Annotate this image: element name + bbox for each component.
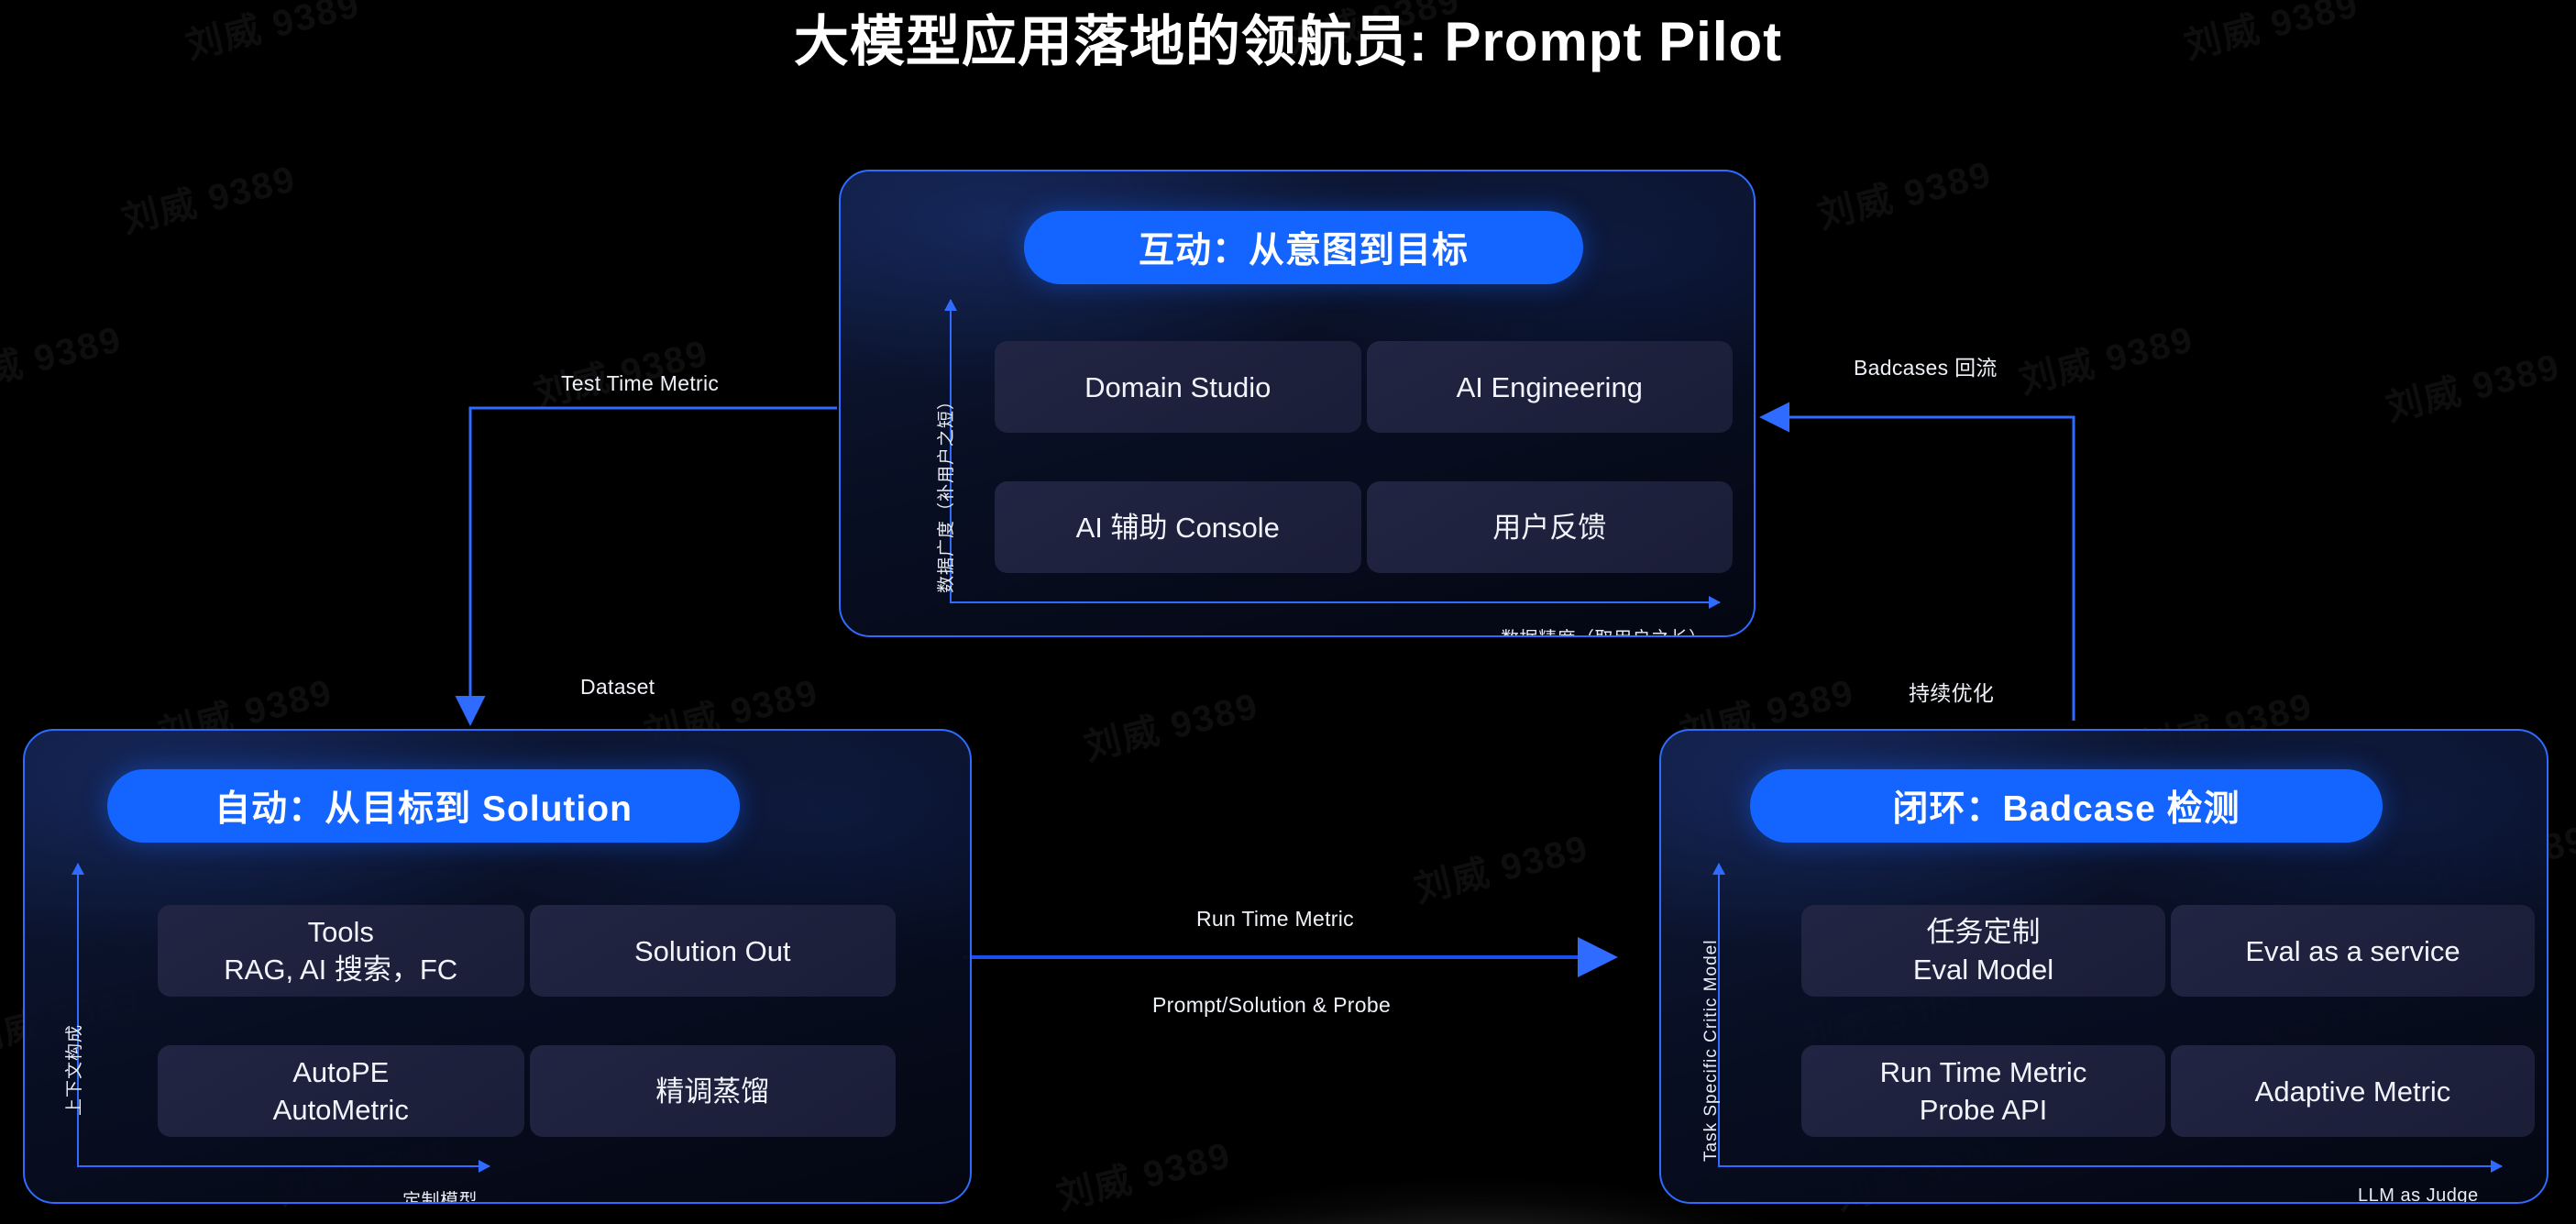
panel-interaction[interactable]: 互动：从意图到目标 数据广度（补用户之短） 数据精度（取用户之长） Domain… [839, 170, 1756, 637]
watermark: 刘威 9389 [1078, 676, 1263, 770]
card-line-1: Domain Studio [1084, 369, 1271, 406]
connector-label-run-time-metric: Run Time Metric [1196, 907, 1354, 932]
watermark: 刘威 9389 [528, 323, 713, 417]
watermark: 刘威 9389 [1811, 144, 1997, 238]
connector-label-test-time-metric: Test Time Metric [561, 371, 719, 396]
connector-label-dataset: Dataset [580, 675, 655, 700]
watermark: 刘威 9389 [116, 149, 301, 243]
card-line-1: AutoPE [292, 1053, 389, 1091]
card-run-time-metric-probe-api[interactable]: Run Time Metric Probe API [1801, 1045, 2165, 1137]
watermark: 刘威 9389 [2380, 336, 2565, 431]
card-finetune-distill[interactable]: 精调蒸馏 [530, 1045, 897, 1137]
card-line-1: Eval as a service [2245, 932, 2460, 970]
card-grid: Tools RAG, AI 搜索，FC Solution Out AutoPE … [158, 905, 896, 1180]
card-line-2: RAG, AI 搜索，FC [224, 951, 457, 988]
watermark: 刘威 9389 [0, 309, 127, 403]
card-line-1: 精调蒸馏 [655, 1073, 769, 1110]
card-task-specific-eval-model[interactable]: 任务定制 Eval Model [1801, 905, 2165, 997]
card-line-1: AI 辅助 Console [1076, 509, 1280, 546]
panel-header-automation[interactable]: 自动：从目标到 Solution [107, 769, 740, 843]
panel-automation[interactable]: 自动：从目标到 Solution 上下文构成 定制模型 Tools RAG, A… [23, 729, 972, 1204]
card-line-1: Adaptive Metric [2255, 1073, 2451, 1110]
connector-top-to-left [470, 408, 837, 721]
card-line-1: 用户反馈 [1492, 509, 1606, 546]
card-line-2: Probe API [1920, 1091, 2048, 1129]
card-line-1: AI Engineering [1457, 369, 1643, 406]
card-line-1: Run Time Metric [1880, 1053, 2087, 1091]
card-grid: 任务定制 Eval Model Eval as a service Run Ti… [1801, 905, 2535, 1180]
card-line-2: Eval Model [1913, 951, 2053, 988]
card-user-feedback[interactable]: 用户反馈 [1367, 481, 1734, 573]
axis-y-label: 数据广度（补用户之短） [932, 391, 957, 593]
panel-closed-loop[interactable]: 闭环：Badcase 检测 Task Specific Critic Model… [1659, 729, 2548, 1204]
card-domain-studio[interactable]: Domain Studio [995, 341, 1361, 433]
axis-x-label: LLM as Judge [2358, 1185, 2479, 1204]
axis-y-label: Task Specific Critic Model [1701, 940, 1722, 1162]
card-eval-as-a-service[interactable]: Eval as a service [2171, 905, 2535, 997]
connector-label-continuous-optim: 持续优化 [1909, 676, 1994, 707]
axis-y-label: 上下文构成 [61, 1024, 85, 1116]
panel-header-interaction[interactable]: 互动：从意图到目标 [1024, 211, 1583, 284]
axis-x-label: 数据精度（取用户之长） [1501, 623, 1708, 637]
watermark: 刘威 9389 [1051, 1125, 1236, 1219]
card-line-1: 任务定制 [1927, 913, 2041, 951]
watermark: 刘威 9389 [2013, 309, 2198, 403]
axis-y-arrow [77, 864, 79, 1166]
card-grid: Domain Studio AI Engineering AI 辅助 Conso… [995, 341, 1733, 616]
slide-canvas: 刘威 9389 刘威 9389 刘威 9389 刘威 9389 刘威 9389 … [0, 0, 2576, 1224]
page-title: 大模型应用落地的领航员: Prompt Pilot [0, 0, 2576, 84]
watermark: 刘威 9389 [1408, 818, 1593, 912]
card-line-1: Tools [308, 913, 374, 951]
card-line-2: AutoMetric [273, 1091, 409, 1129]
card-adaptive-metric[interactable]: Adaptive Metric [2171, 1045, 2535, 1137]
card-ai-assisted-console[interactable]: AI 辅助 Console [995, 481, 1361, 573]
card-line-1: Solution Out [634, 932, 791, 970]
axis-x-label: 定制模型 [402, 1185, 478, 1204]
card-tools[interactable]: Tools RAG, AI 搜索，FC [158, 905, 524, 997]
connector-label-prompt-solution: Prompt/Solution & Probe [1152, 993, 1391, 1018]
connector-label-badcases-backflow: Badcases 回流 [1854, 350, 1998, 381]
card-solution-out[interactable]: Solution Out [530, 905, 897, 997]
panel-header-closed-loop[interactable]: 闭环：Badcase 检测 [1750, 769, 2383, 843]
card-ai-engineering[interactable]: AI Engineering [1367, 341, 1734, 433]
card-autope-autometric[interactable]: AutoPE AutoMetric [158, 1045, 524, 1137]
